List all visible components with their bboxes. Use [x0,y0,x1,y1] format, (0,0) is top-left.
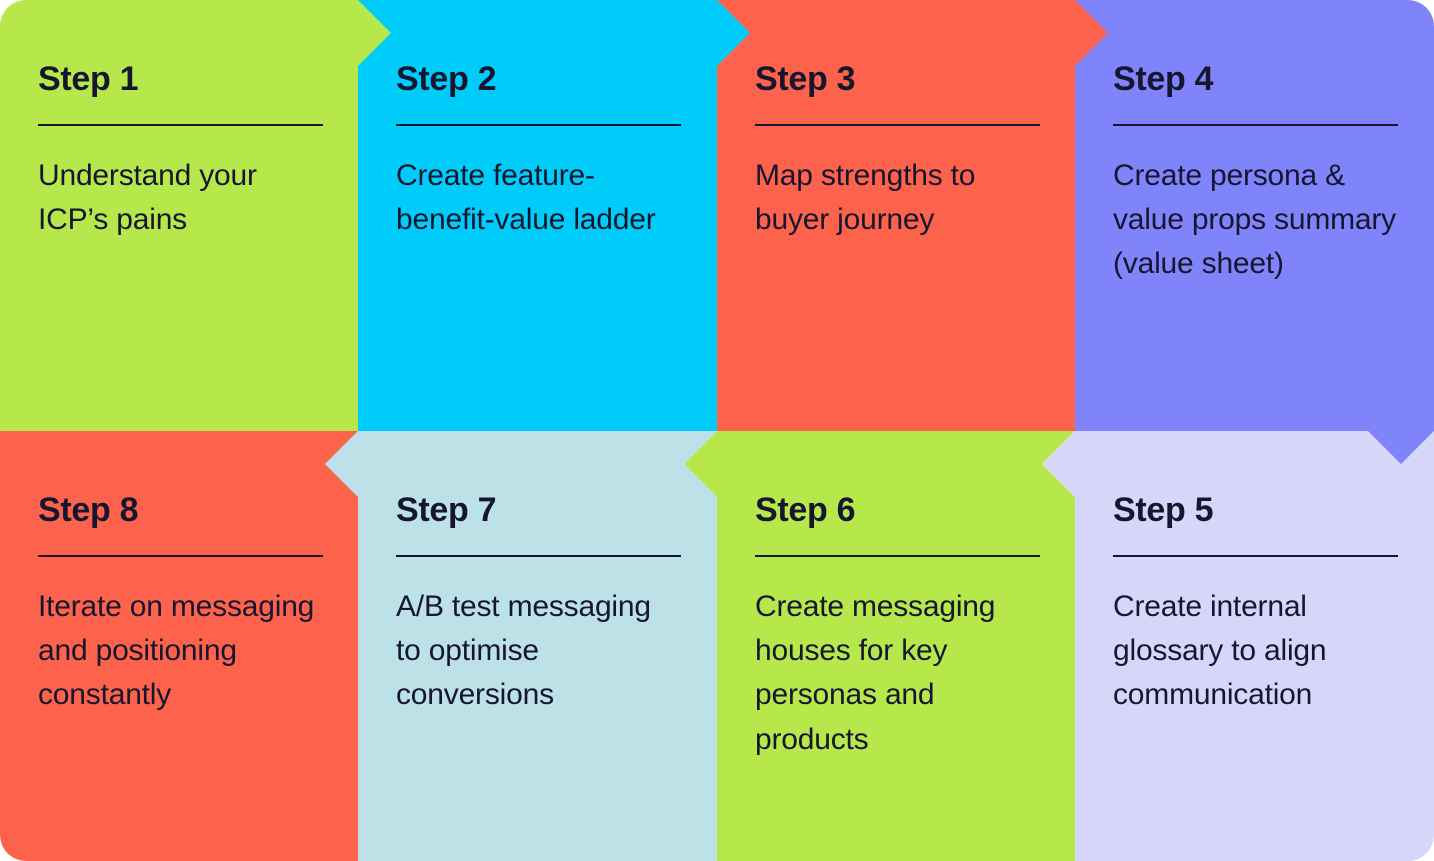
step-card-4[interactable]: Step 4 Create persona & value props summ… [1075,0,1434,431]
process-diagram: Step 1 Understand your ICP’s pains Step … [0,0,1434,861]
step-body-4: Create persona & value props summary (va… [1113,154,1413,287]
step-divider-4 [1113,124,1398,126]
step-divider-8 [38,555,323,557]
step-divider-2 [396,124,681,126]
step-title-7: Step 7 [396,493,676,529]
step-divider-3 [755,124,1040,126]
step-title-8: Step 8 [38,493,318,529]
step-body-6: Create messaging houses for key personas… [755,585,1055,763]
step-title-4: Step 4 [1113,62,1371,98]
step-divider-7 [396,555,681,557]
step-card-6[interactable]: Step 6 Create messaging houses for key p… [717,431,1075,861]
step-body-2: Create feature-benefit-value ladder [396,154,676,243]
step-body-3: Map strengths to buyer journey [755,154,1035,243]
step-title-5: Step 5 [1113,493,1393,529]
step-title-3: Step 3 [755,62,1013,98]
step-divider-5 [1113,555,1398,557]
step-body-1: Understand your ICP’s pains [38,154,328,243]
step-cells-layer: Step 1 Understand your ICP’s pains Step … [0,0,1434,861]
step-card-1[interactable]: Step 1 Understand your ICP’s pains [0,0,358,431]
step-card-8[interactable]: Step 8 Iterate on messaging and position… [0,431,358,861]
step-card-7[interactable]: Step 7 A/B test messaging to optimise co… [358,431,717,861]
step-body-7: A/B test messaging to optimise conversio… [396,585,676,718]
step-title-1: Step 1 [38,62,296,98]
step-title-6: Step 6 [755,493,1035,529]
step-card-2[interactable]: Step 2 Create feature-benefit-value ladd… [358,0,717,431]
step-body-8: Iterate on messaging and positioning con… [38,585,328,718]
step-card-3[interactable]: Step 3 Map strengths to buyer journey [717,0,1075,431]
step-card-5[interactable]: Step 5 Create internal glossary to align… [1075,431,1434,861]
step-body-5: Create internal glossary to align commun… [1113,585,1413,718]
step-divider-6 [755,555,1040,557]
step-divider-1 [38,124,323,126]
step-title-2: Step 2 [396,62,654,98]
